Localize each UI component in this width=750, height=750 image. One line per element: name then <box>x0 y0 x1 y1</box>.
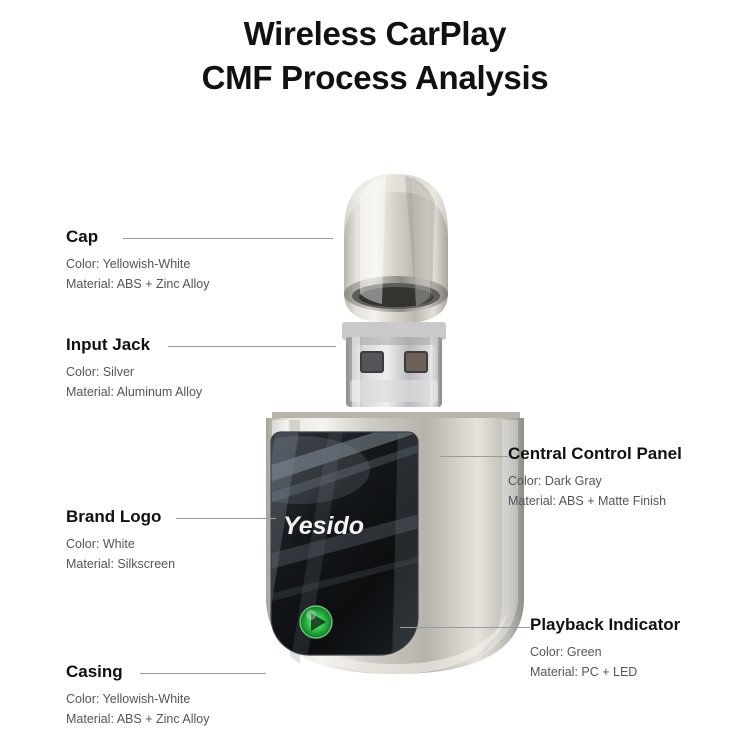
callout-playback-indicator: Playback Indicator Color: Green Material… <box>530 616 680 682</box>
callout-cap: Cap Color: Yellowish-White Material: ABS… <box>66 228 209 294</box>
cap-shape <box>344 174 448 324</box>
callout-brand-logo: Brand Logo Color: White Material: Silksc… <box>66 508 175 574</box>
title-line-2: CMF Process Analysis <box>0 56 750 100</box>
callout-central-control-panel: Central Control Panel Color: Dark Gray M… <box>508 445 682 511</box>
callout-casing-material: Material: ABS + Zinc Alloy <box>66 709 209 729</box>
page-title: Wireless CarPlay CMF Process Analysis <box>0 12 750 99</box>
brand-logo-text: Yesido <box>283 512 364 540</box>
title-line-1: Wireless CarPlay <box>244 15 507 52</box>
leader-line-central-control-panel <box>440 456 508 457</box>
central-control-panel-shape <box>230 418 420 665</box>
callout-central-control-panel-heading: Central Control Panel <box>508 445 682 464</box>
callout-brand-logo-color: Color: White <box>66 534 175 554</box>
callout-input-jack-material: Material: Aluminum Alloy <box>66 382 202 402</box>
callout-central-control-panel-material: Material: ABS + Matte Finish <box>508 491 682 511</box>
callout-cap-color: Color: Yellowish-White <box>66 254 209 274</box>
callout-cap-heading: Cap <box>66 228 209 247</box>
callout-playback-indicator-color: Color: Green <box>530 642 680 662</box>
callout-casing-heading: Casing <box>66 663 209 682</box>
callout-cap-material: Material: ABS + Zinc Alloy <box>66 274 209 294</box>
leader-line-brand-logo <box>176 518 276 519</box>
callout-brand-logo-material: Material: Silkscreen <box>66 554 175 574</box>
casing-shape <box>266 412 524 674</box>
callout-casing-color: Color: Yellowish-White <box>66 689 209 709</box>
callout-central-control-panel-color: Color: Dark Gray <box>508 471 682 491</box>
leader-line-playback-indicator <box>400 627 530 628</box>
diagram-canvas: Wireless CarPlay CMF Process Analysis <box>0 0 750 750</box>
input-jack-shape <box>342 322 446 407</box>
callout-brand-logo-heading: Brand Logo <box>66 508 175 527</box>
callout-playback-indicator-heading: Playback Indicator <box>530 616 680 635</box>
callout-input-jack-heading: Input Jack <box>66 336 202 355</box>
callout-playback-indicator-material: Material: PC + LED <box>530 662 680 682</box>
playback-indicator-shape <box>300 606 332 638</box>
callout-casing: Casing Color: Yellowish-White Material: … <box>66 663 209 729</box>
callout-input-jack: Input Jack Color: Silver Material: Alumi… <box>66 336 202 402</box>
callout-input-jack-color: Color: Silver <box>66 362 202 382</box>
